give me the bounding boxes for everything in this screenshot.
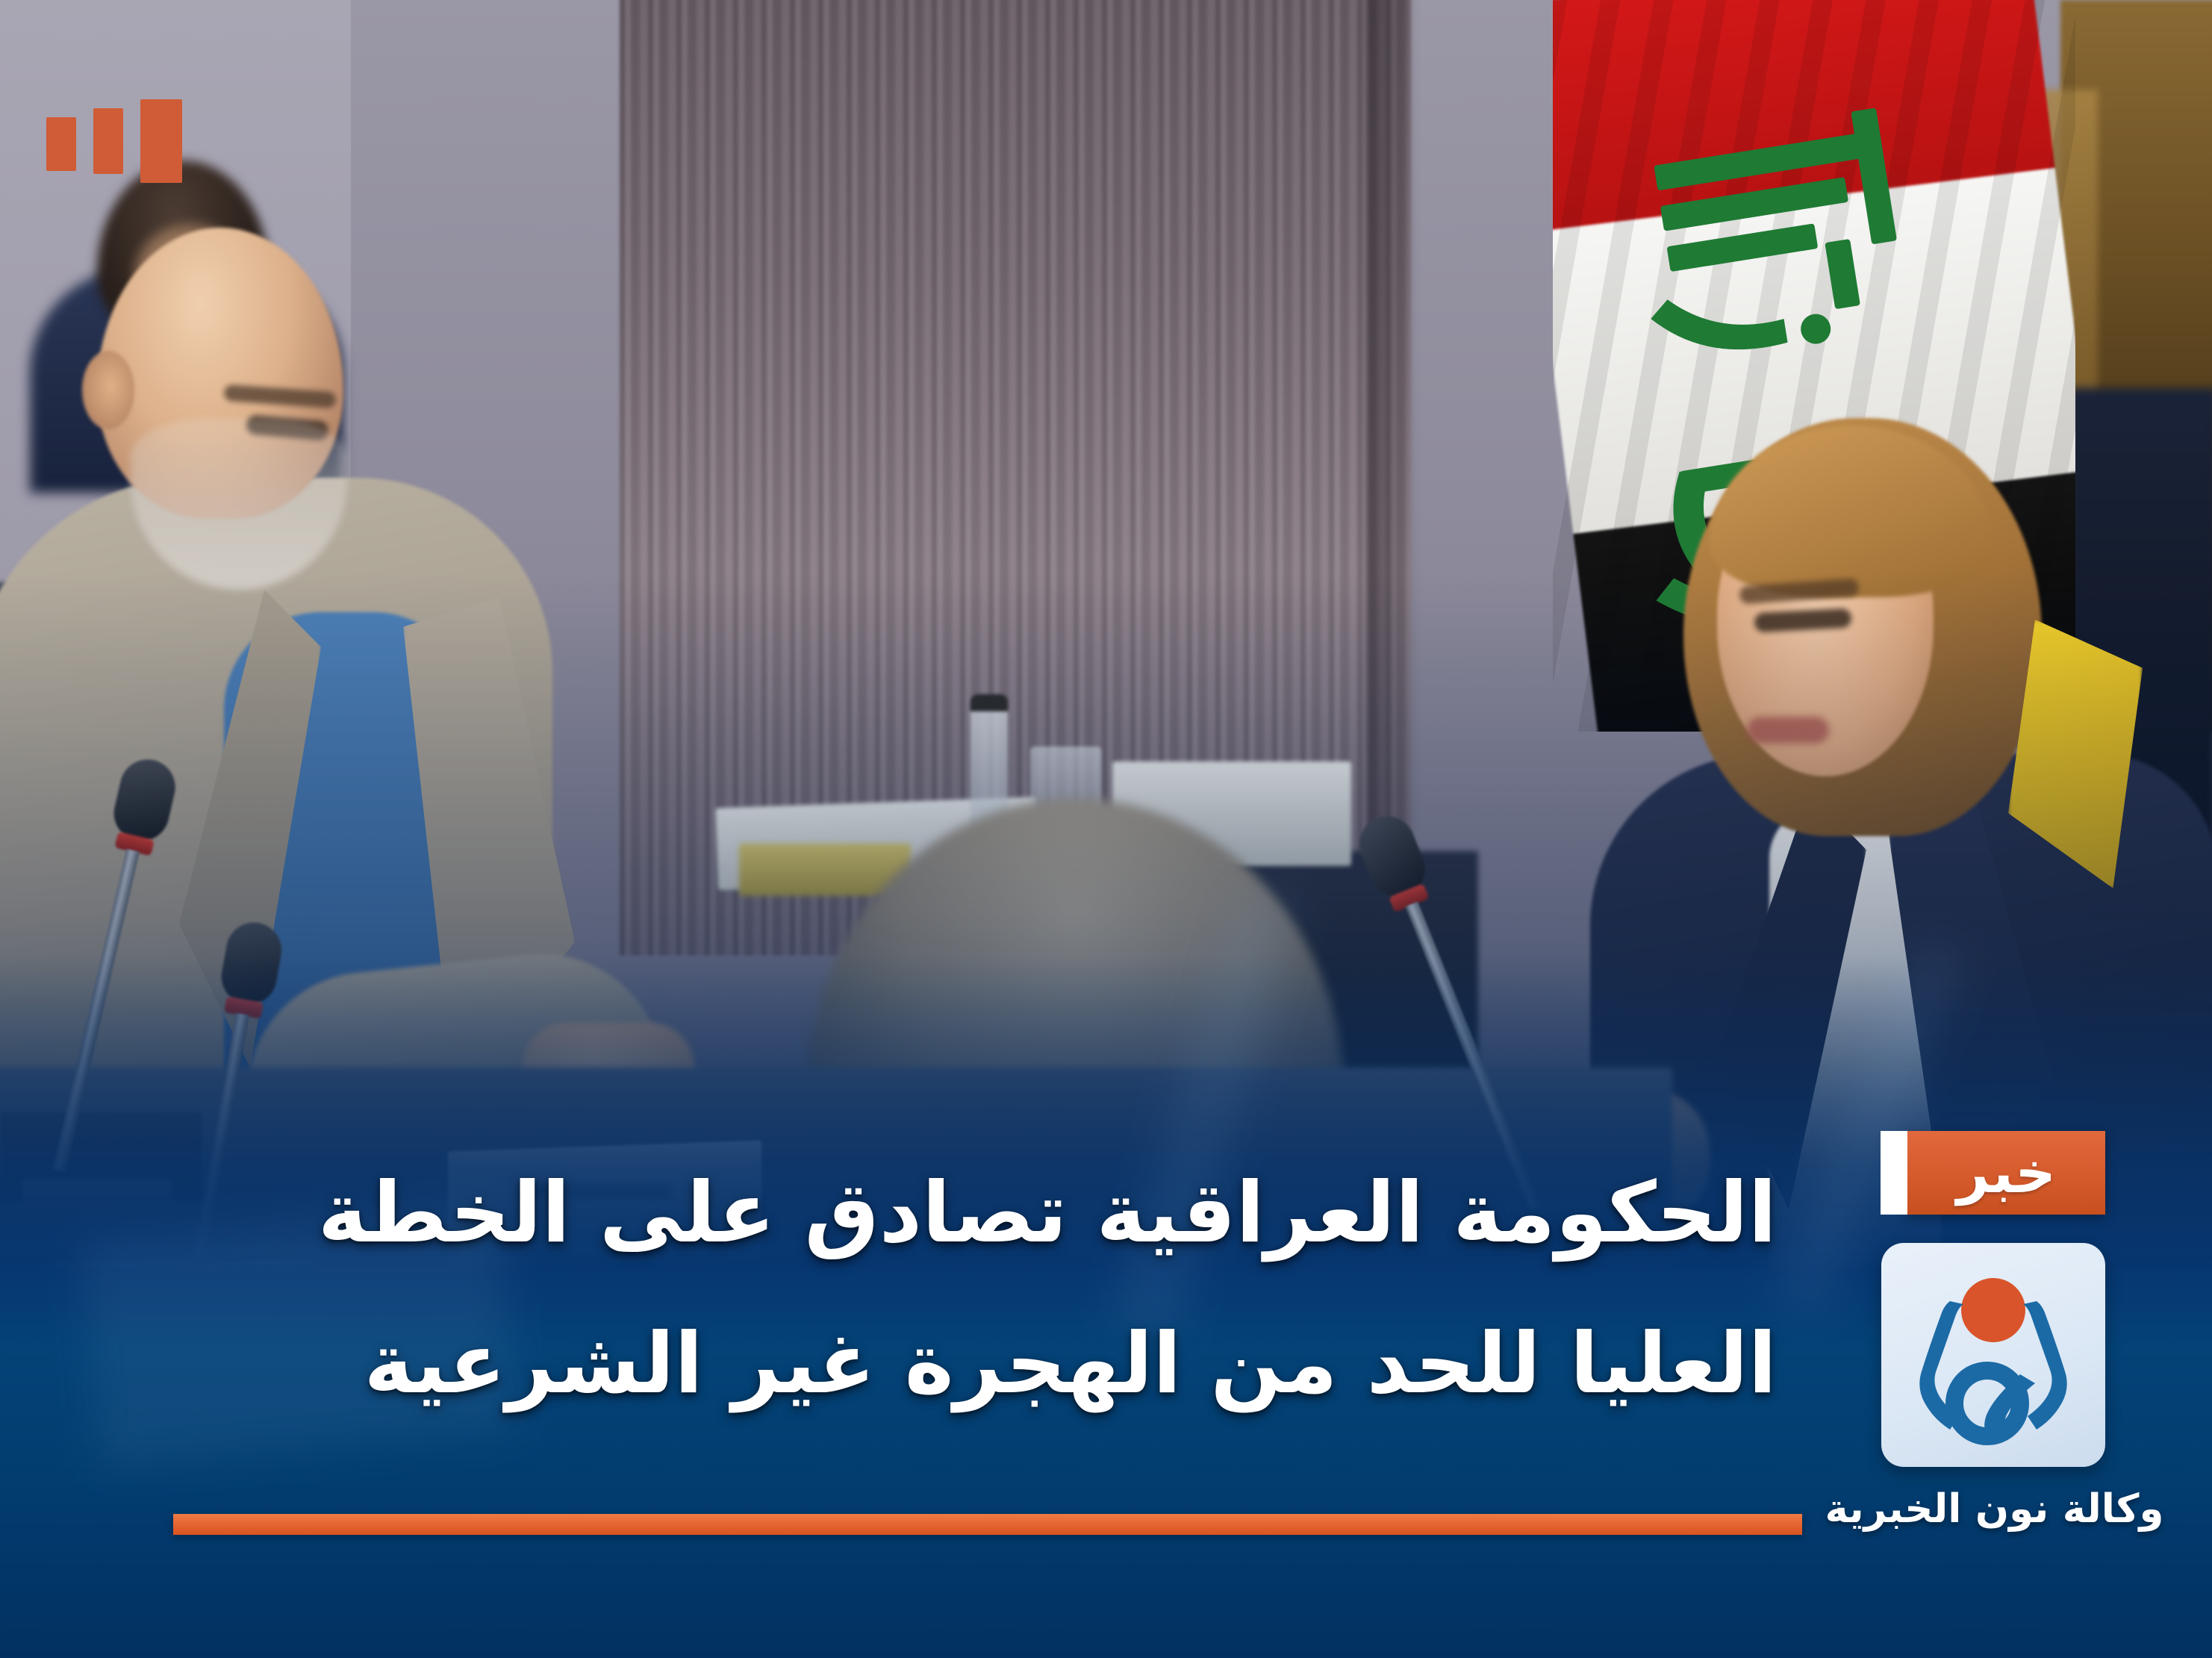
news-badge-label: خبر [1957,1144,2056,1201]
agency-name: وكالة نون الخبرية [1777,1486,2212,1533]
logo-right-arm-icon [2023,1301,2067,1430]
headline: الحكومة العراقية تصادق على الخطة العليا … [134,1138,1777,1439]
headline-line-1: الحكومة العراقية تصادق على الخطة [134,1138,1777,1289]
three-bars-watermark-icon [46,99,182,183]
headline-line-2: العليا للحد من الهجرة غير الشرعية [134,1289,1777,1440]
news-badge: خبر [1881,1131,2105,1215]
news-badge-white-bar [1881,1131,1907,1215]
bar-3 [46,117,76,171]
news-card: الحكومة العراقية تصادق على الخطة العليا … [0,0,2212,1658]
orange-divider-rule [173,1514,1802,1535]
bar-1 [140,99,182,183]
logo-dot-icon [1961,1278,2025,1342]
agency-logo-mark [1881,1243,2105,1467]
bar-2 [93,108,123,174]
brand-column: خبر وكالة نون الخبرية [1777,1120,2212,1598]
agency-logo [1881,1243,2105,1467]
news-badge-box: خبر [1907,1131,2105,1215]
